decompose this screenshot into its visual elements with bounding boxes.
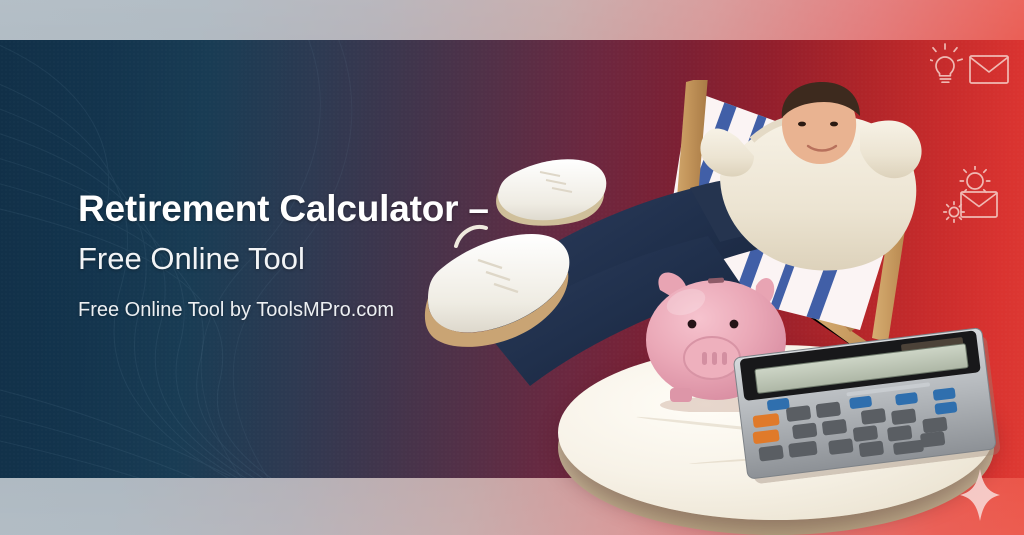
envelope-icon xyxy=(961,192,997,217)
sun-envelope-gear-icon-group xyxy=(942,166,1002,228)
lightbulb-envelope-icon-group xyxy=(930,42,1012,88)
envelope-icon xyxy=(970,56,1008,83)
hero-copy: Retirement Calculator – Free Online Tool… xyxy=(78,190,698,320)
page-title: Retirement Calculator – xyxy=(78,190,698,227)
page-subtitle: Free Online Tool xyxy=(78,243,698,274)
sparkle-icon xyxy=(958,467,1002,523)
lightbulb-icon xyxy=(930,44,962,82)
hero-banner: Retirement Calculator – Free Online Tool… xyxy=(0,40,1024,478)
page-byline: Free Online Tool by ToolsMPro.com xyxy=(78,300,698,320)
sun-icon xyxy=(960,166,990,192)
gear-icon xyxy=(944,202,964,222)
